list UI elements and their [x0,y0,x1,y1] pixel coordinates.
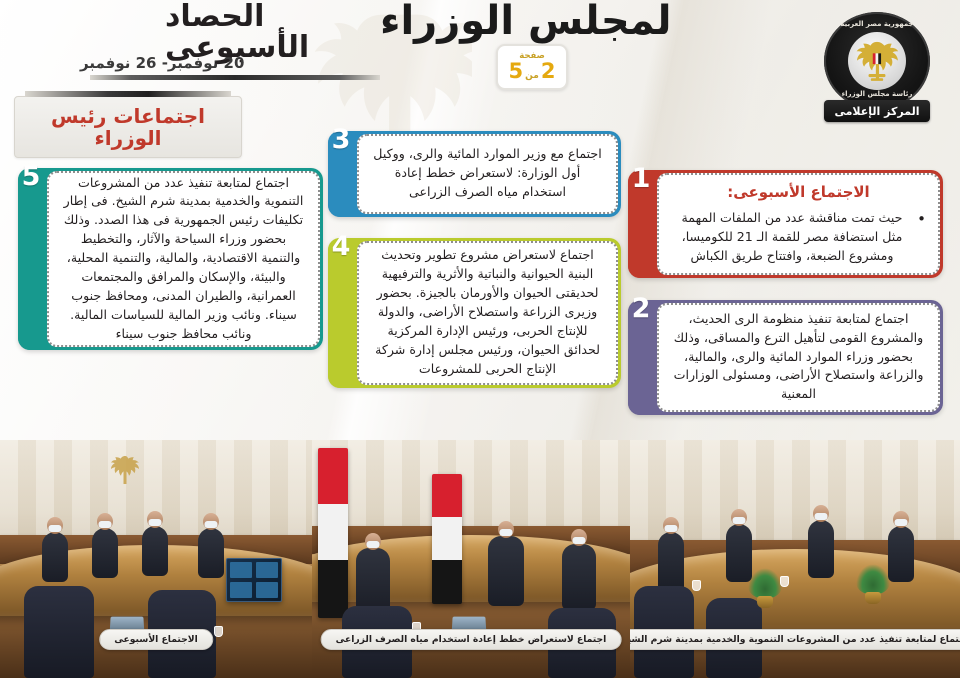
card-5-text: اجتماع لمتابعة تنفيذ عدد من المشروعات ال… [61,174,306,344]
header-date-block: 20 نوفمبر- 26 نوفمبر [80,54,380,80]
state-crest-icon [110,454,140,488]
page-badge-numbers: 2 من 5 [509,61,556,82]
card-3-number-tab: 3 [328,131,354,217]
card-4-body: اجتماع لاستعراض مشروع تطوير وتحديث البني… [357,241,618,385]
page-badge-current: 2 [541,61,556,82]
card-1-bullet-list: حيث تمت مناقشة عدد من الملفات المهمة مثل… [671,209,926,266]
section-title: اجتماعات رئيس الوزراء [15,105,241,150]
card-5-number: 5 [22,163,41,190]
page-badge-total: 5 [509,61,524,82]
header-title-line1: الحصاد [165,0,264,34]
header-date-range: 20 نوفمبر- 26 نوفمبر [80,54,380,75]
card-4-text: اجتماع لاستعراض مشروع تطوير وتحديث البني… [371,246,604,378]
card-1-body: الاجتماع الأسبوعى: حيث تمت مناقشة عدد من… [657,173,940,275]
logo-eagle-emblem-icon [848,32,906,90]
page-header: جمهورية مصر العربية رئاسة مجلس الوزراء ا… [0,0,960,100]
card-5-body: اجتماع لمتابعة تنفيذ عدد من المشروعات ال… [47,171,320,347]
meeting-card-1[interactable]: 1 الاجتماع الأسبوعى: حيث تمت مناقشة عدد … [628,170,943,278]
card-2-number-tab: 2 [628,300,654,415]
card-5-number-tab: 5 [18,168,44,350]
section-plate-topbar [25,91,231,97]
header-divider [90,75,380,80]
photo-2-caption: اجتماع لاستعراض خطط إعادة استخدام مياه ا… [321,629,622,650]
card-2-body: اجتماع لمتابعة تنفيذ منظومة الرى الحديث،… [657,303,940,412]
infographic-page: جمهورية مصر العربية رئاسة مجلس الوزراء ا… [0,0,960,678]
card-1-heading: الاجتماع الأسبوعى: [671,181,926,204]
meeting-photo-2: اجتماع لاستعراض خطط إعادة استخدام مياه ا… [312,440,630,678]
meeting-photo-3: الاجتماع الأسبوعى [0,440,312,678]
video-wall-screen [226,558,282,602]
photo-1-caption: اجتماع لمتابعة تنفيذ عدد من المشروعات ال… [630,629,960,650]
card-4-number: 4 [332,233,351,260]
logo-banner-text: المركز الإعلامى [824,100,930,122]
page-number-badge: صفحة 2 من 5 [496,44,568,90]
page-badge-of: من [525,72,539,81]
header-main-title: لمجلس الوزراء [380,0,710,42]
card-2-text: اجتماع لمتابعة تنفيذ منظومة الرى الحديث،… [671,310,926,404]
section-title-plate: اجتماعات رئيس الوزراء [14,96,242,158]
cabinet-media-center-logo: جمهورية مصر العربية رئاسة مجلس الوزراء ا… [820,8,934,128]
card-1-bullet-item: حيث تمت مناقشة عدد من الملفات المهمة مثل… [671,209,926,266]
card-2-number: 2 [632,295,651,322]
card-3-text: اجتماع مع وزير الموارد المائية والرى، وو… [371,145,604,202]
photo-strip: اجتماع لمتابعة تنفيذ عدد من المشروعات ال… [0,440,960,678]
card-4-number-tab: 4 [328,238,354,388]
meeting-photo-1: اجتماع لمتابعة تنفيذ عدد من المشروعات ال… [630,440,960,678]
meeting-card-2[interactable]: 2 اجتماع لمتابعة تنفيذ منظومة الرى الحدي… [628,300,943,415]
logo-arc-top-text: جمهورية مصر العربية [820,20,934,28]
card-1-number: 1 [632,165,651,192]
meeting-card-4[interactable]: 4 اجتماع لاستعراض مشروع تطوير وتحديث الب… [328,238,621,388]
card-3-number: 3 [332,126,351,153]
logo-arc-bottom-text: رئاسة مجلس الوزراء [820,90,934,98]
meeting-card-3[interactable]: 3 اجتماع مع وزير الموارد المائية والرى، … [328,131,621,217]
meeting-card-5[interactable]: 5 اجتماع لمتابعة تنفيذ عدد من المشروعات … [18,168,323,350]
card-1-number-tab: 1 [628,170,654,278]
photo-3-caption: الاجتماع الأسبوعى [99,629,213,650]
card-3-body: اجتماع مع وزير الموارد المائية والرى، وو… [357,134,618,214]
